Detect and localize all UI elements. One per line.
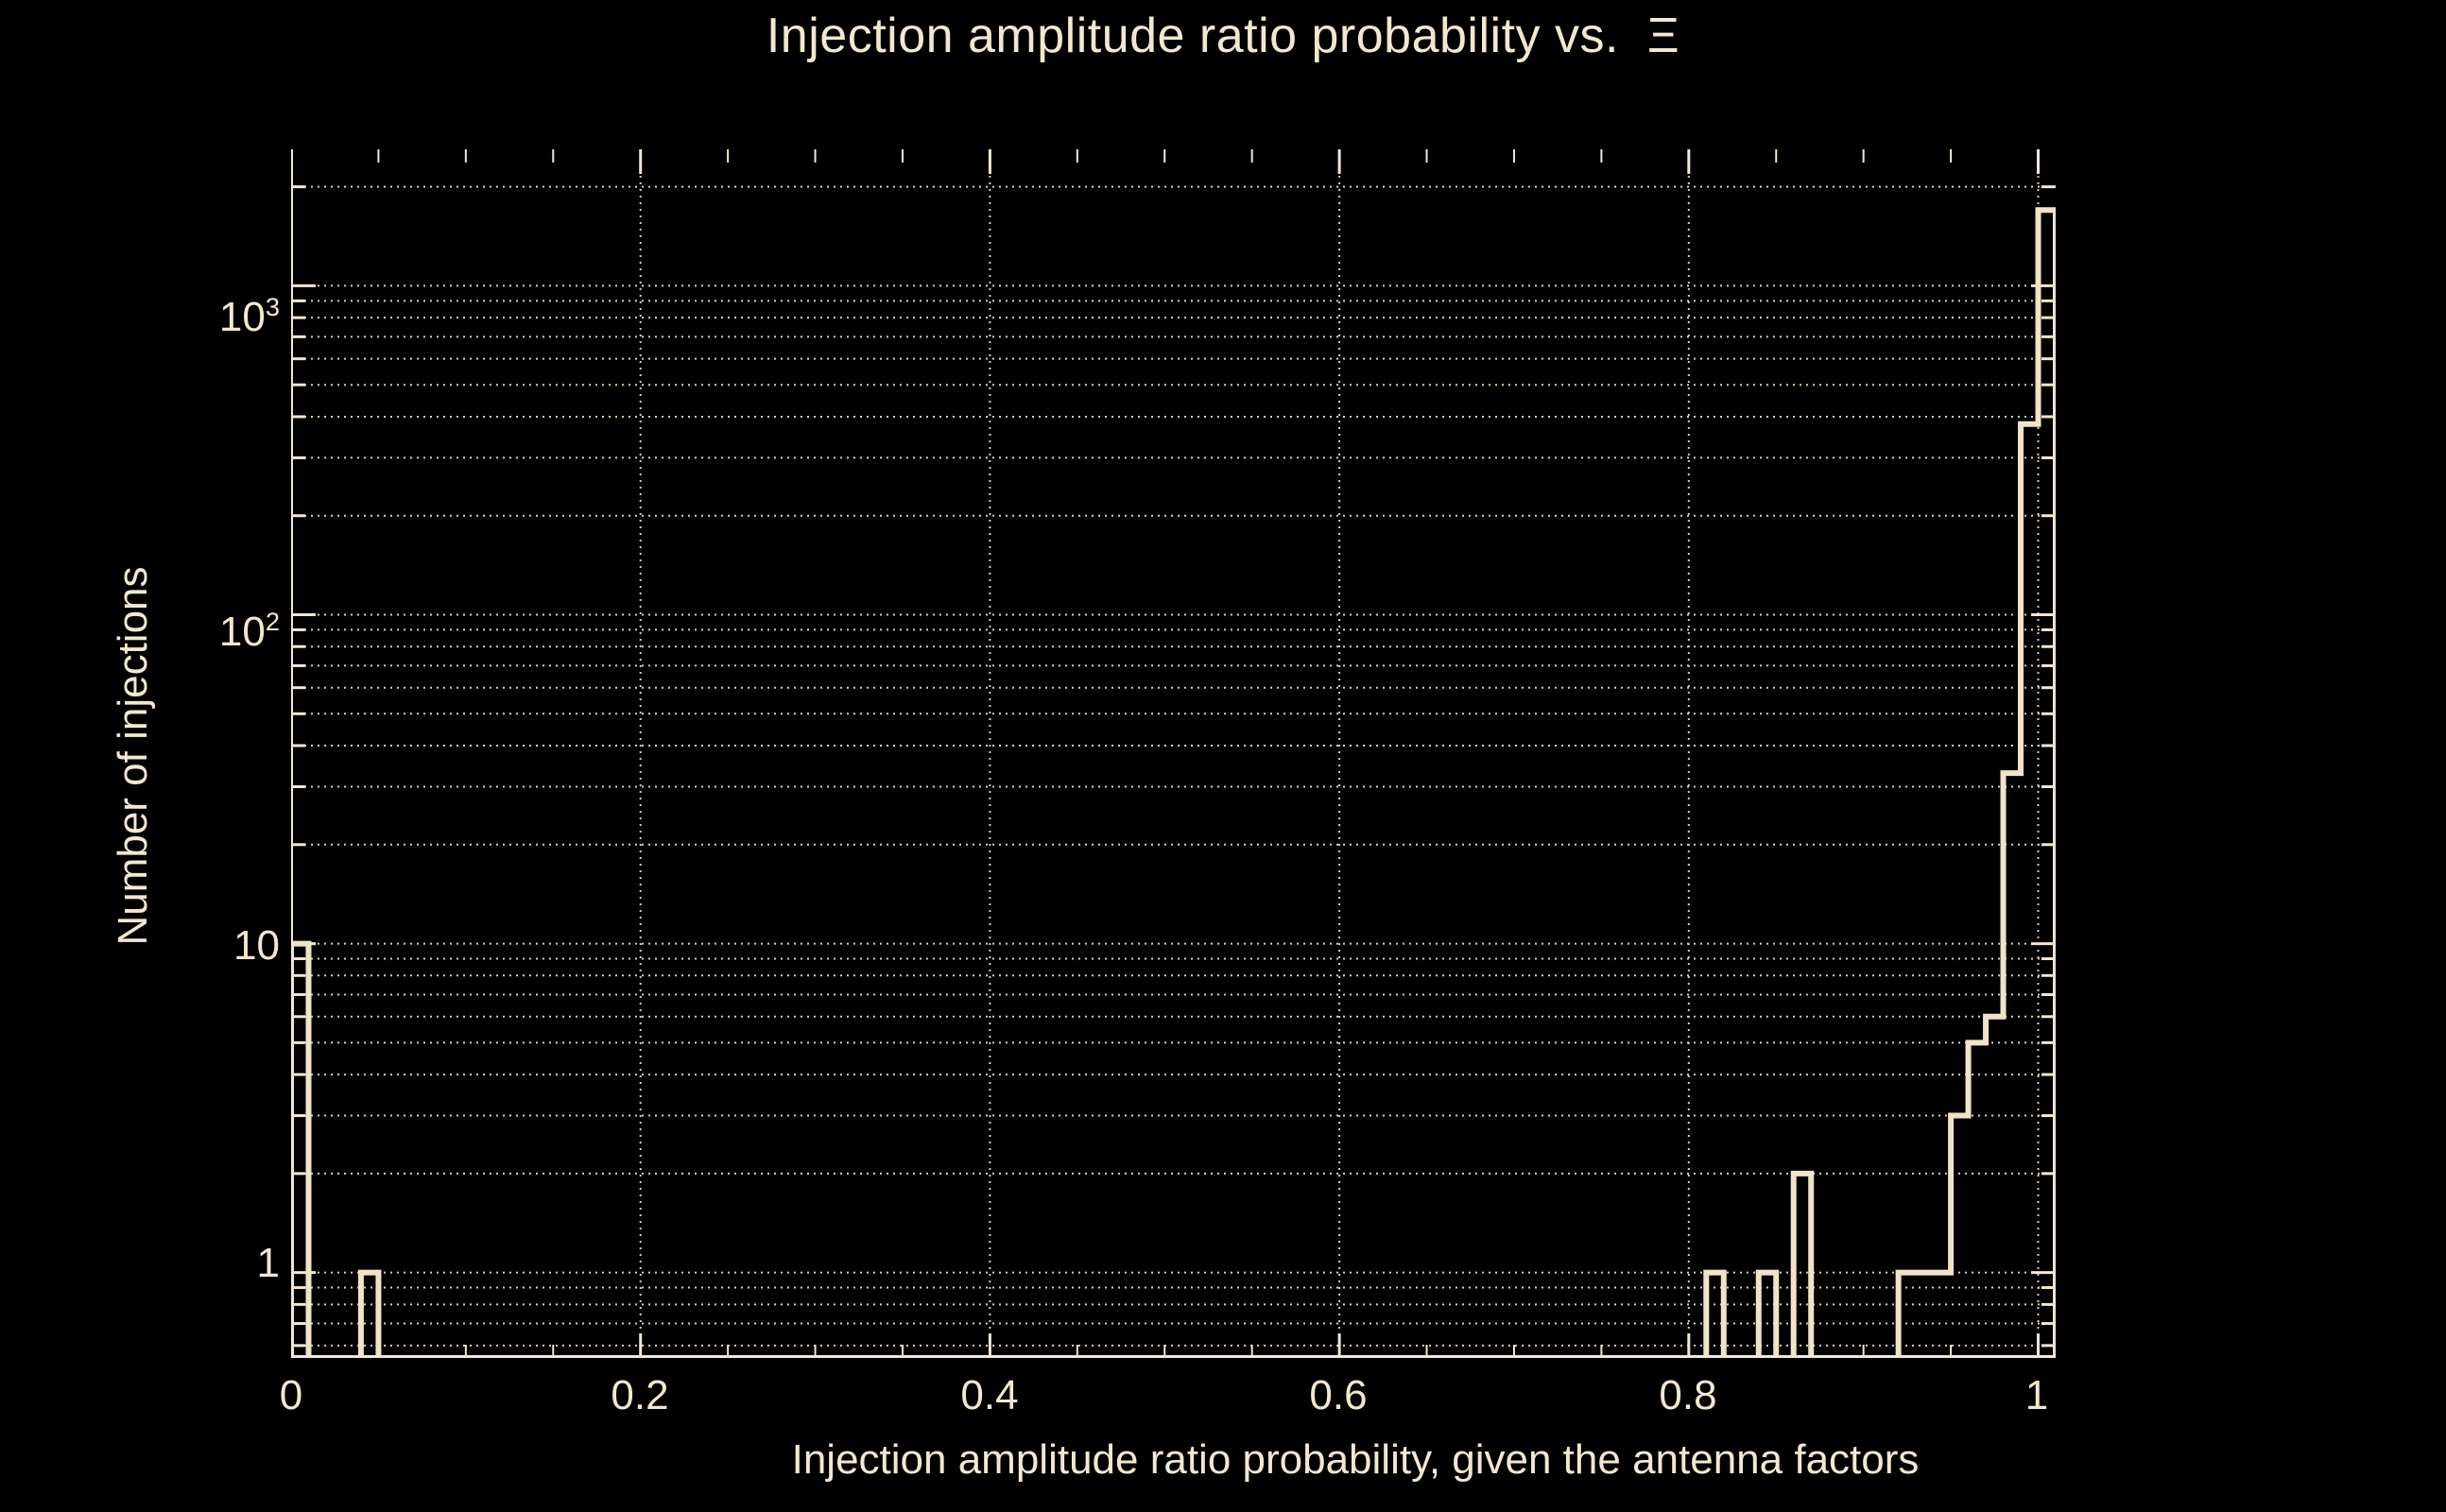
x-tick-0.8: 0.8 (1659, 1372, 1716, 1419)
x-tick-1: 1 (2025, 1372, 2048, 1419)
y-axis-ticks: 103 102 10 1 (0, 0, 280, 1512)
x-axis-label: Injection amplitude ratio probability, g… (0, 1436, 2446, 1484)
x-tick-0.6: 0.6 (1309, 1372, 1367, 1419)
x-tick-0.4: 0.4 (960, 1372, 1018, 1419)
chart-title: Injection amplitude ratio probability vs… (0, 8, 2446, 64)
y-tick-1000: 103 (219, 292, 280, 341)
y-tick-10: 10 (233, 922, 280, 970)
y-tick-1: 1 (257, 1240, 280, 1287)
plot-area (291, 149, 2056, 1358)
x-tick-0.2: 0.2 (611, 1372, 668, 1419)
plot-svg (291, 149, 2056, 1358)
histogram-outline (291, 210, 2056, 1358)
x-tick-0: 0 (280, 1372, 302, 1419)
y-tick-100: 102 (219, 607, 280, 656)
chart-canvas: Injection amplitude ratio probability vs… (0, 0, 2446, 1512)
